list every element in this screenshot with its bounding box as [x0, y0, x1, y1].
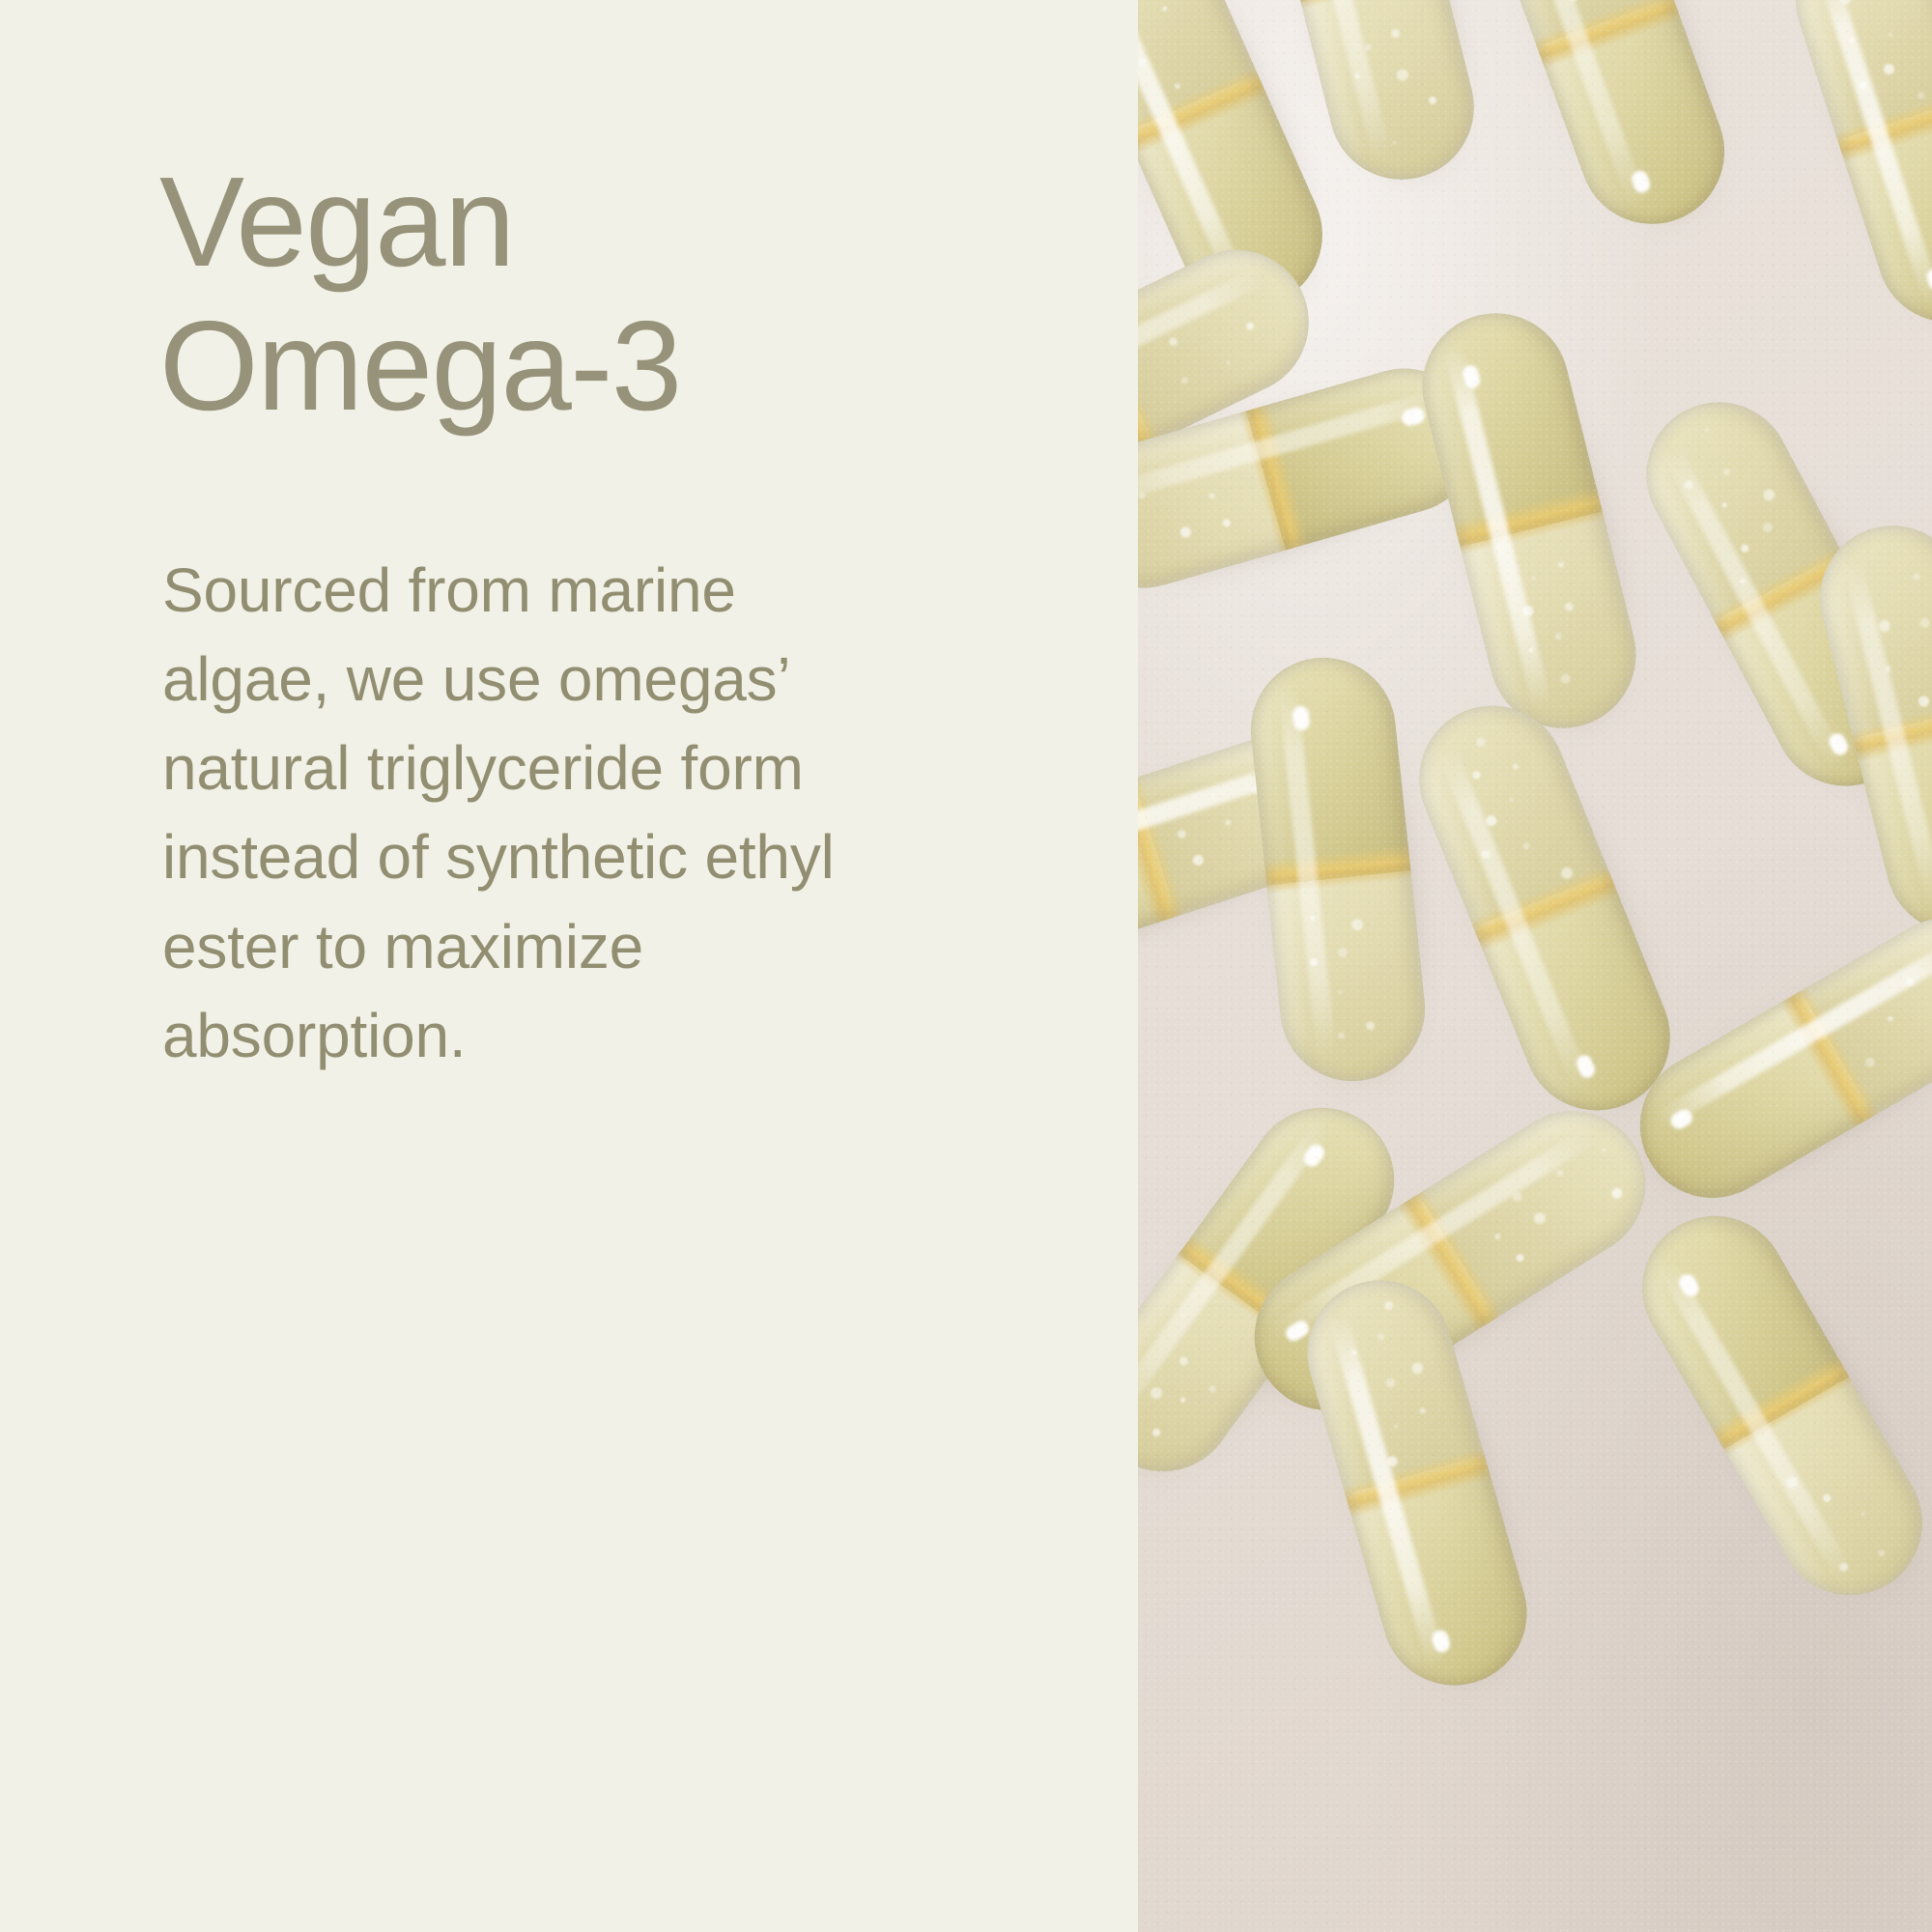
text-panel: Vegan Omega-3 Sourced from marine algae,…	[0, 0, 1138, 1932]
capsule-3	[1470, 0, 1746, 244]
capsule-edge-shading	[1243, 650, 1432, 1088]
capsule-16	[1290, 1264, 1544, 1703]
capsule-11	[1243, 650, 1432, 1088]
capsule-17	[1615, 1189, 1932, 1621]
capsule-shell	[1397, 684, 1692, 1133]
capsule-7	[1406, 298, 1651, 744]
capsule-edge-shading	[1290, 1264, 1544, 1703]
capsule-12	[1397, 684, 1692, 1133]
capsule-edge-shading	[1777, 0, 1932, 341]
capsule-edge-shading	[1406, 298, 1651, 744]
capsule-shell	[1243, 650, 1432, 1088]
product-photo	[1138, 0, 1932, 1932]
capsule-4	[1777, 0, 1932, 341]
page-title: Vegan Omega-3	[159, 150, 1029, 438]
body-paragraph: Sourced from marine algae, we use omegas…	[162, 546, 838, 1080]
capsule-shell	[1290, 1264, 1544, 1703]
capsule-edge-shading	[1615, 1189, 1932, 1621]
capsule-edge-shading	[1397, 684, 1692, 1133]
capsule-shell	[1406, 298, 1651, 744]
promo-graphic: Vegan Omega-3 Sourced from marine algae,…	[0, 0, 1932, 1932]
capsule-shell	[1615, 1189, 1932, 1621]
capsule-shell	[1777, 0, 1932, 341]
